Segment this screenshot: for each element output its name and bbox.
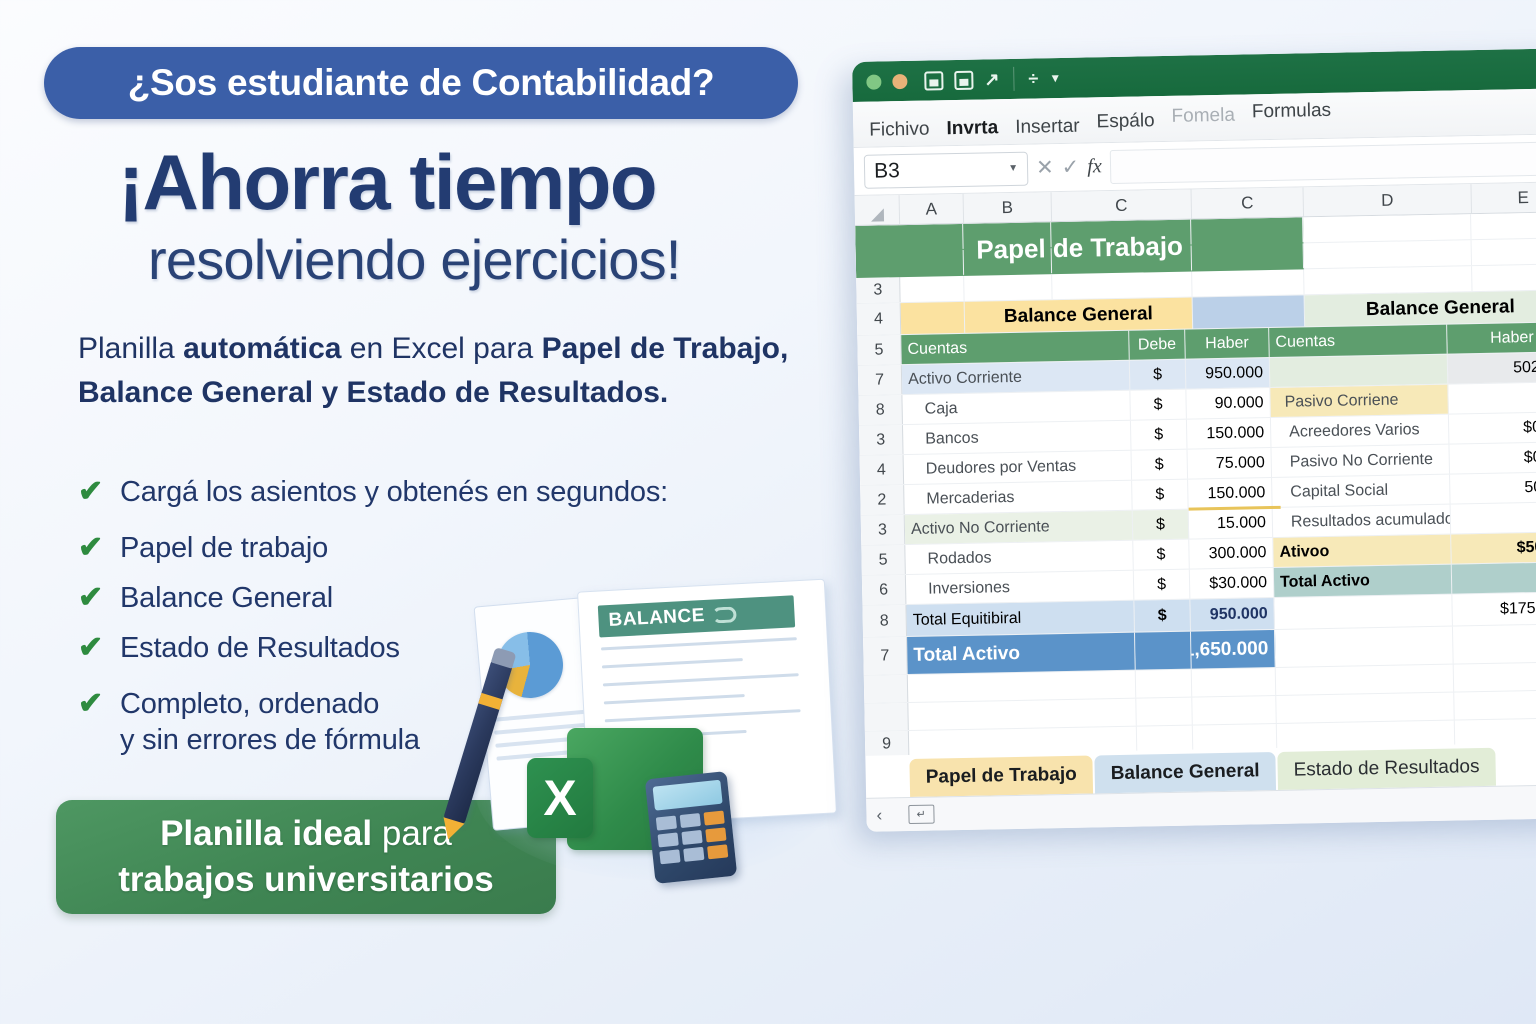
cell-account-label-right[interactable]: Capital Social xyxy=(1272,475,1451,507)
row-header[interactable]: 5 xyxy=(857,335,902,365)
cta-banner-line-1: Planilla ideal para xyxy=(160,811,452,857)
cell-currency[interactable]: $ xyxy=(1134,600,1191,632)
cell[interactable] xyxy=(1276,693,1454,723)
cell[interactable] xyxy=(1052,272,1192,300)
cell[interactable] xyxy=(1303,214,1471,242)
cell-amount-right[interactable]: .B xyxy=(1448,382,1536,413)
paperclip-icon xyxy=(712,606,737,623)
cell-account-label[interactable]: Mercaderias xyxy=(904,481,1133,514)
cell-currency[interactable]: $ xyxy=(1130,390,1187,420)
tab-fichivo[interactable]: Fichivo xyxy=(869,119,930,142)
paragraph-part-2: automática xyxy=(183,332,341,365)
sheet-tab-estado-de-resultados[interactable]: Estado de Resultados xyxy=(1277,748,1496,790)
cell[interactable] xyxy=(1304,240,1472,268)
row-header[interactable] xyxy=(864,703,909,731)
cell-amount-right[interactable]: 50.000 xyxy=(1450,472,1536,503)
cell[interactable] xyxy=(1472,264,1536,291)
row-header[interactable]: 8 xyxy=(862,605,907,637)
tab-invrta[interactable]: Invrta xyxy=(946,117,998,140)
excel-icon: X xyxy=(527,758,593,838)
cell-currency[interactable]: $ xyxy=(1130,360,1187,390)
cell[interactable] xyxy=(1135,632,1192,670)
cell-total-label[interactable]: Total Equitibiral xyxy=(906,601,1135,636)
cell-grand-total-label[interactable]: Total Activo xyxy=(907,633,1136,674)
cell[interactable] xyxy=(1052,246,1192,274)
cell[interactable] xyxy=(1453,624,1536,663)
excel-icon-letter: X xyxy=(543,773,576,823)
section-title-left[interactable]: Balance General xyxy=(965,298,1194,333)
cell-currency[interactable]: $ xyxy=(1133,510,1190,540)
cell-currency[interactable]: $ xyxy=(1133,540,1190,570)
cell[interactable] xyxy=(1192,668,1277,697)
tab-espalo[interactable]: Espálo xyxy=(1096,110,1155,133)
check-icon: ✔ xyxy=(78,580,112,616)
row-header[interactable]: 3 xyxy=(861,515,906,545)
row-header[interactable]: 3 xyxy=(859,425,904,455)
cell[interactable] xyxy=(1472,238,1536,265)
row-header[interactable]: 7 xyxy=(863,637,908,675)
question-pill: ¿Sos estudiante de Contabilidad? xyxy=(44,47,798,119)
cell[interactable] xyxy=(964,248,1052,275)
list-item-label: Balance General xyxy=(120,580,333,616)
cta-bold: Planilla ideal xyxy=(160,814,372,853)
cell-account-label-right[interactable]: Pasivo No Corriente xyxy=(1271,445,1450,477)
balance-document-header: BALANCE xyxy=(598,595,795,637)
cell-account-label[interactable]: Activo No Corriente xyxy=(905,511,1134,544)
cell-currency[interactable]: $ xyxy=(1134,570,1191,600)
cell-currency[interactable]: $ xyxy=(1131,420,1188,450)
cell-account-label-right[interactable]: Acreedores Varios xyxy=(1271,415,1450,447)
cell-account-label-right[interactable]: Pasivo Corriene xyxy=(1270,385,1449,417)
row-header[interactable]: 8 xyxy=(858,395,903,425)
cell-account-label-right[interactable]: Total Activo xyxy=(1274,565,1453,597)
paragraph-part-3: en Excel para xyxy=(341,332,541,365)
promo-paragraph: Planilla automática en Excel para Papel … xyxy=(78,327,818,415)
col-header-haber-left[interactable]: Haber xyxy=(1185,328,1270,359)
cell-amount[interactable]: 950.000 xyxy=(1186,358,1271,389)
headline-line-2: resolviendo ejercicios! xyxy=(148,232,681,288)
cell[interactable] xyxy=(1051,220,1191,248)
cell-amount[interactable]: 150.000 xyxy=(1188,478,1273,509)
name-box-value: B3 xyxy=(874,159,900,183)
titlebar-divider xyxy=(1013,67,1014,91)
redo-icon[interactable]: ↗ xyxy=(984,70,999,88)
accounting-illustration: BALANCE X xyxy=(455,580,855,890)
paragraph-part-1: Planilla xyxy=(78,332,183,365)
tab-formulas[interactable]: Formulas xyxy=(1252,100,1332,124)
name-box[interactable]: B3 ▼ xyxy=(864,151,1029,188)
cell[interactable] xyxy=(1191,217,1303,244)
cell-account-label[interactable]: Activo Corriente xyxy=(902,361,1131,394)
cell-amount-right[interactable]: $50.000 xyxy=(1451,532,1536,563)
confirm-icon[interactable]: ✓ xyxy=(1061,155,1079,180)
cell-amount-right[interactable] xyxy=(1451,502,1536,533)
cell[interactable] xyxy=(1192,696,1277,725)
list-item: ✔ Papel de trabajo xyxy=(78,530,838,566)
cell-amount[interactable]: $30.000 xyxy=(1190,568,1275,599)
tab-fomela[interactable]: Fomela xyxy=(1171,105,1235,128)
spreadsheet-grid[interactable]: Papel de Trabajo 1 2 xyxy=(855,212,1536,756)
cell[interactable] xyxy=(1454,662,1536,691)
column-header-d[interactable]: D xyxy=(1302,184,1471,216)
cell[interactable] xyxy=(908,671,1136,702)
row-header[interactable]: 7 xyxy=(858,365,903,395)
cell[interactable] xyxy=(901,302,966,334)
cell[interactable] xyxy=(900,276,964,302)
save-icon[interactable] xyxy=(924,71,943,90)
cell-amount[interactable]: 150.000 xyxy=(1187,418,1272,449)
cell[interactable] xyxy=(1471,212,1536,239)
row-header[interactable]: 4 xyxy=(860,455,905,485)
select-all-corner[interactable] xyxy=(855,195,900,225)
row-header[interactable]: 6 xyxy=(862,575,907,605)
section-title-right[interactable]: Balance General xyxy=(1305,290,1536,326)
list-item-label: Papel de trabajo xyxy=(120,530,328,566)
cell-account-label-right[interactable]: Ativoo xyxy=(1273,535,1452,567)
sheet-tab-papel-de-trabajo[interactable]: Papel de Trabajo xyxy=(909,756,1093,798)
col-header-cuentas-left[interactable]: Cuentas xyxy=(901,331,1130,364)
cell-currency[interactable]: $ xyxy=(1132,480,1189,510)
row-header[interactable]: 2 xyxy=(860,485,905,515)
cell-amount[interactable]: 90.000 xyxy=(1186,388,1271,419)
scroll-left-icon[interactable]: ‹ xyxy=(876,805,882,825)
cell[interactable] xyxy=(1192,269,1304,296)
cell-account-label[interactable]: Rodados xyxy=(905,541,1134,574)
column-header-c2[interactable]: C xyxy=(1191,187,1304,218)
cell[interactable] xyxy=(1304,266,1472,294)
cell-total-amount[interactable]: 950.000 xyxy=(1190,598,1275,631)
cell-account-label-right[interactable]: Resultados acumulados xyxy=(1273,505,1452,537)
cell[interactable] xyxy=(963,222,1051,249)
tab-insertar[interactable]: Insertar xyxy=(1015,116,1080,139)
row-header[interactable]: 4 xyxy=(857,303,902,335)
col-header-cuentas-right[interactable]: Cuentas xyxy=(1269,325,1448,357)
cell[interactable] xyxy=(899,224,963,250)
column-header-c1[interactable]: C xyxy=(1051,190,1192,222)
cell-amount[interactable]: 75.000 xyxy=(1188,448,1273,479)
cell-currency[interactable]: $ xyxy=(1132,450,1189,480)
cell-selected[interactable] xyxy=(1193,295,1306,328)
list-item-line-2: y sin errores de fórmula xyxy=(120,722,420,758)
cell-account-label[interactable]: Deudores por Ventas xyxy=(904,451,1133,484)
cell-amount-right[interactable]: $0.000 xyxy=(1449,442,1536,473)
column-header-b[interactable]: B xyxy=(963,192,1052,223)
list-item-label: Estado de Resultados xyxy=(120,630,400,666)
triangle-icon xyxy=(870,208,883,221)
row-header[interactable] xyxy=(864,675,909,703)
promo-panel: ¿Sos estudiante de Contabilidad? ¡Ahorra… xyxy=(0,0,860,1024)
pen-band xyxy=(478,693,502,710)
window-minimize-dot[interactable] xyxy=(866,74,881,89)
list-item-label: Cargá los asientos y obtenés en segundos… xyxy=(120,474,668,510)
calculator-screen xyxy=(653,780,723,811)
cell-amount-right[interactable] xyxy=(1452,562,1536,593)
cell-account-label[interactable]: Caja xyxy=(902,391,1131,424)
chevron-down-icon[interactable]: ▼ xyxy=(1008,163,1018,174)
headline-line-1: ¡Ahorra tiempo xyxy=(118,143,656,221)
list-item-label: Completo, ordenado y sin errores de fórm… xyxy=(120,686,420,758)
cell[interactable] xyxy=(1136,670,1193,698)
cell-amount-right[interactable]: $0.000 xyxy=(1449,412,1536,443)
balance-document-title: BALANCE xyxy=(608,605,705,632)
excel-window-wrapper: ↗ ÷ ▼ Fichivo Invrta Insertar Espálo Fom… xyxy=(852,48,1536,832)
column-header-e[interactable]: E xyxy=(1470,182,1536,213)
cell-amount[interactable]: 15.000 xyxy=(1189,508,1274,539)
cell[interactable] xyxy=(908,699,1136,730)
column-header-a[interactable]: A xyxy=(899,194,964,224)
chevron-down-icon[interactable]: ▼ xyxy=(1049,71,1061,85)
list-item: ✔ Cargá los asientos y obtenés en segund… xyxy=(78,474,838,510)
cell[interactable] xyxy=(1275,627,1454,667)
cell-amount[interactable]: 300.000 xyxy=(1189,538,1274,569)
cell[interactable] xyxy=(1136,698,1193,726)
cell-amount-right[interactable]: $1750.000 xyxy=(1452,592,1536,625)
cell[interactable] xyxy=(1454,690,1536,719)
check-icon: ✔ xyxy=(78,474,112,510)
select-all-icon[interactable]: ↵ xyxy=(908,805,934,824)
cell-account-label-right[interactable] xyxy=(1270,355,1449,387)
function-icon[interactable]: fx xyxy=(1087,155,1102,178)
col-header-debe[interactable]: Debe xyxy=(1129,330,1186,360)
cta-banner-line-2: trabajos universitarios xyxy=(118,857,493,903)
check-icon: ✔ xyxy=(78,686,112,722)
excel-window: ↗ ÷ ▼ Fichivo Invrta Insertar Espálo Fom… xyxy=(852,48,1536,832)
divide-icon[interactable]: ÷ xyxy=(1028,69,1038,87)
calculator-icon xyxy=(645,771,738,884)
check-icon: ✔ xyxy=(78,630,112,666)
formula-input[interactable] xyxy=(1109,141,1536,184)
cell[interactable] xyxy=(1192,243,1304,270)
row-header[interactable]: 5 xyxy=(861,545,906,575)
cell[interactable] xyxy=(1274,595,1453,629)
calculator-keys xyxy=(656,811,729,865)
window-maximize-dot[interactable] xyxy=(892,73,907,88)
cell[interactable] xyxy=(1276,665,1454,695)
cell[interactable] xyxy=(900,250,964,276)
check-icon: ✔ xyxy=(78,530,112,566)
cell-amount-right[interactable]: 502.000 xyxy=(1448,352,1536,383)
save-as-icon[interactable] xyxy=(954,70,973,89)
row-header[interactable]: 3 xyxy=(856,277,900,303)
cancel-icon[interactable]: ✕ xyxy=(1036,155,1054,180)
cell-account-label[interactable]: Inversiones xyxy=(906,571,1135,604)
cell-grand-total-amount[interactable]: $ 1,650.000 xyxy=(1191,630,1276,669)
cell[interactable] xyxy=(964,274,1052,301)
sheet-tab-balance-general[interactable]: Balance General xyxy=(1094,752,1276,793)
list-item-line-1: Completo, ordenado xyxy=(120,688,379,720)
col-header-haber-right[interactable]: Haber xyxy=(1447,322,1536,353)
cell-account-label[interactable]: Bancos xyxy=(903,421,1132,454)
question-pill-label: ¿Sos estudiante de Contabilidad? xyxy=(128,62,715,104)
